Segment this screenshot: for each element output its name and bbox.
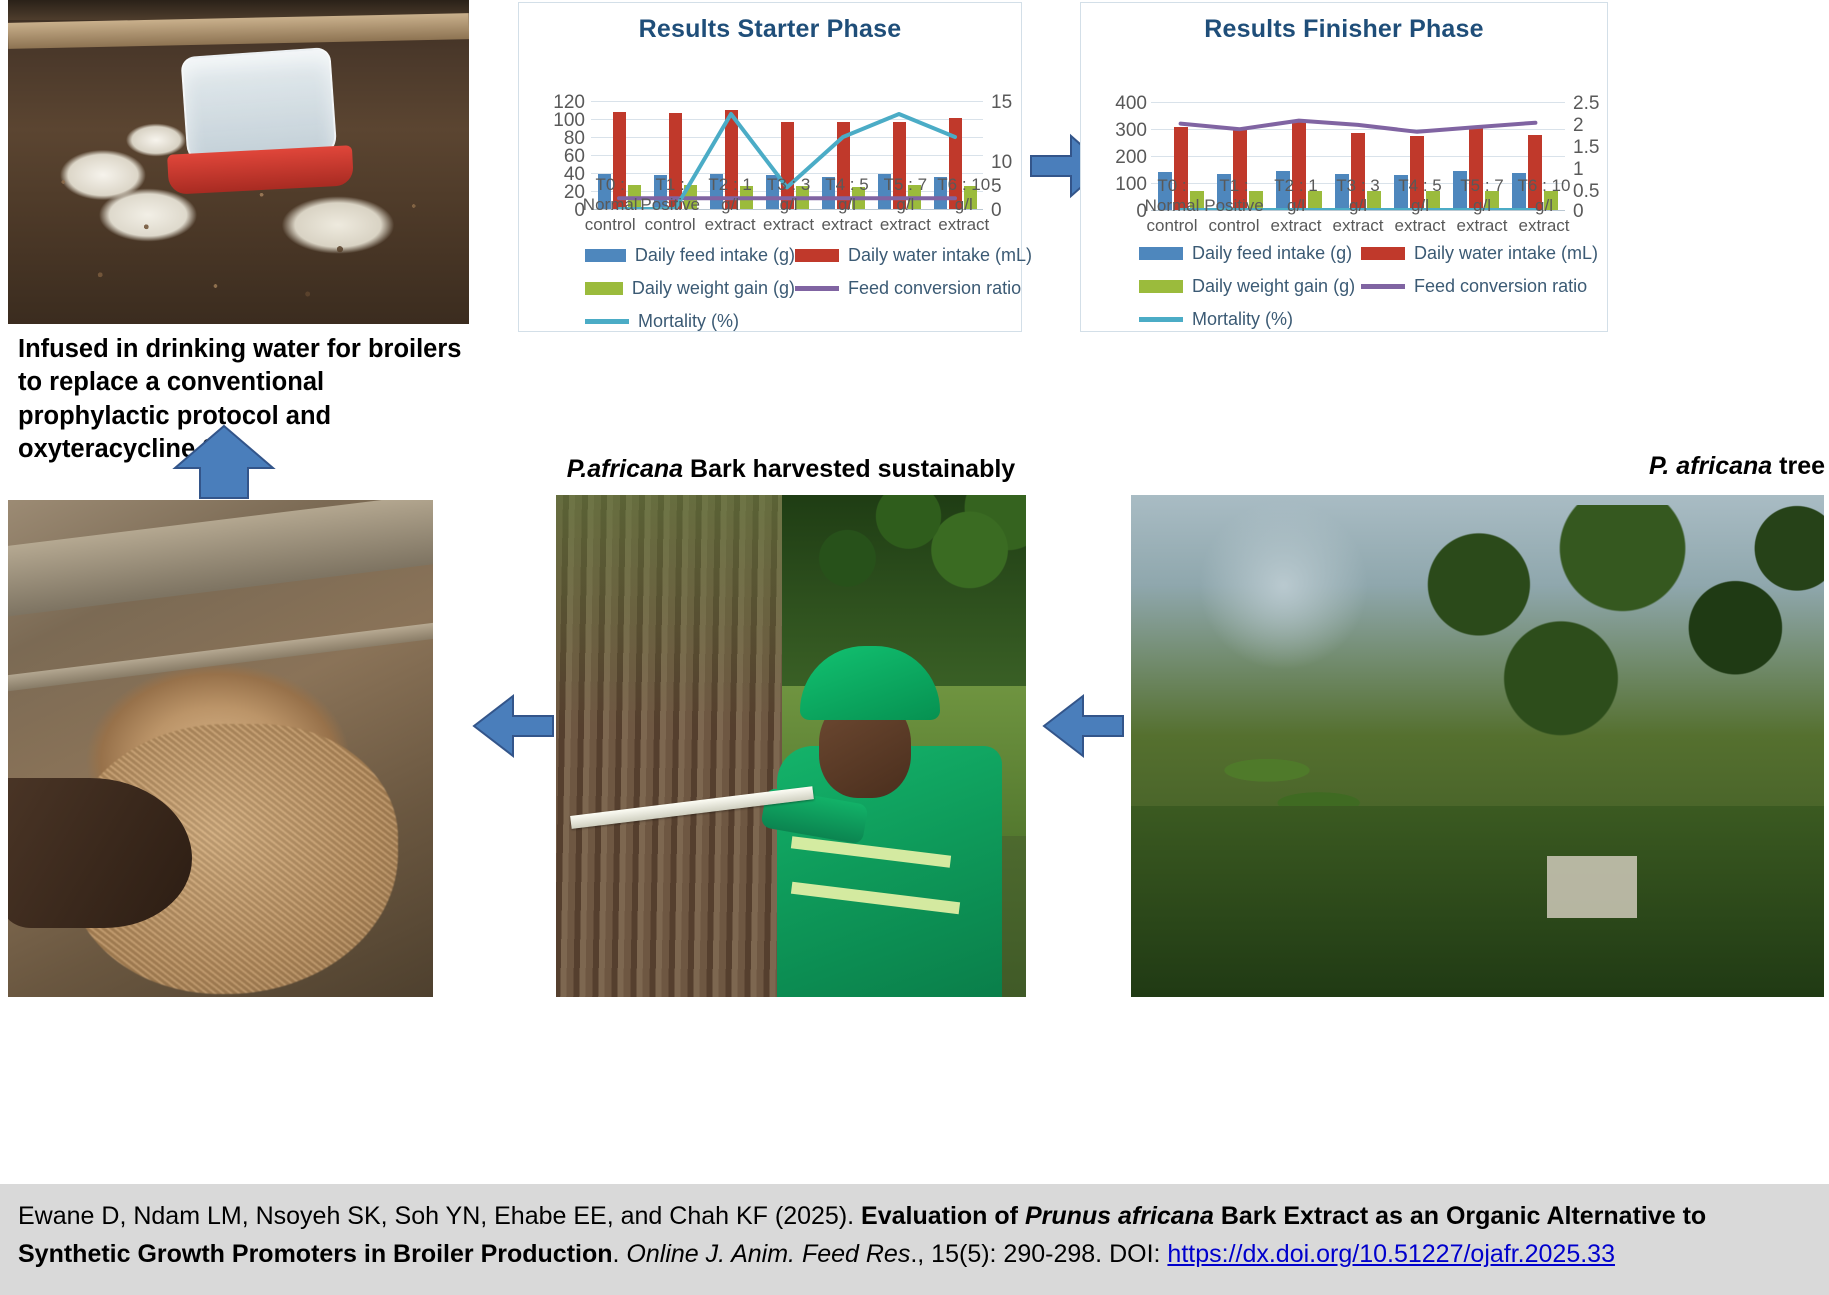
citation-title-species: Prunus africana: [1025, 1202, 1214, 1230]
legend-label: Feed conversion ratio: [1414, 276, 1587, 297]
legend-starter: Daily feed intake (g) Daily water intake…: [519, 245, 1021, 332]
legend-label: Daily water intake (mL): [848, 245, 1032, 266]
legend-label: Daily water intake (mL): [1414, 243, 1598, 264]
understory-vegetation: [1131, 806, 1824, 997]
x-axis-labels-starter: T0 : Normal control T1 : Positive contro…: [581, 175, 993, 235]
x-label: T0 : Normal control: [1141, 176, 1203, 236]
legend-label: Daily feed intake (g): [635, 245, 795, 266]
caption-tree-species: P. africana: [1649, 452, 1772, 480]
legend-line-mortality: [585, 319, 629, 324]
shelf-edge: [8, 618, 433, 696]
legend-label: Mortality (%): [638, 311, 739, 332]
legend-swatch-weight-gain: [1139, 280, 1183, 293]
legend-item-weight-gain[interactable]: Daily weight gain (g): [1139, 276, 1361, 297]
x-axis-labels-finisher: T0 : Normal control T1 : Positive contro…: [1141, 176, 1575, 236]
legend-finisher: Daily feed intake (g) Daily water intake…: [1081, 243, 1607, 330]
y-tick-finisher-0: 0: [1093, 201, 1147, 223]
x-label: T1 : Positive control: [1203, 176, 1265, 236]
arrow-up-to-broilers-photo: [172, 424, 277, 500]
x-label: T6 : 10 g/l extract: [935, 175, 993, 235]
citation-bar: Ewane D, Ndam LM, Nsoyeh SK, Soh YN, Eha…: [0, 1182, 1829, 1295]
doi-link[interactable]: https://dx.doi.org/10.51227/ojafr.2025.3…: [1167, 1240, 1615, 1268]
shelf-board: [8, 500, 433, 621]
legend-label: Daily feed intake (g): [1192, 243, 1352, 264]
legend-item-fcr[interactable]: Feed conversion ratio: [1361, 276, 1587, 297]
legend-label: Mortality (%): [1192, 309, 1293, 330]
x-label: T0 : Normal control: [581, 175, 639, 235]
chart-title-finisher: Results Finisher Phase: [1081, 15, 1607, 44]
chart-card-starter: Results Starter Phase 120 100 80 60 40 2…: [518, 2, 1022, 332]
legend-label: Feed conversion ratio: [848, 278, 1021, 299]
legend-item-fcr[interactable]: Feed conversion ratio: [795, 278, 1021, 299]
caption-bark-species: P.africana: [567, 455, 683, 483]
caption-bark-harvested: P.africana Bark harvested sustainably: [556, 455, 1026, 484]
broilers-photo: [8, 0, 469, 324]
legend-item-water-intake[interactable]: Daily water intake (mL): [1361, 243, 1598, 264]
y2-tick-finisher-1p5: 1.5: [1573, 137, 1599, 159]
bark-powder-photo: [8, 500, 433, 997]
caption-bark-rest: Bark harvested sustainably: [683, 455, 1015, 483]
legend-line-fcr: [1361, 284, 1405, 289]
africana-tree-photo: [1131, 495, 1824, 997]
y2-tick-finisher-2: 2: [1573, 115, 1584, 137]
x-label: T6 : 10 g/l extract: [1513, 176, 1575, 236]
chart-title-starter: Results Starter Phase: [519, 15, 1021, 44]
citation-volume-pages: ., 15(5): 290-298. DOI:: [910, 1240, 1167, 1268]
x-label: T5 : 7 g/l extract: [876, 175, 934, 235]
y-tick-finisher-400: 400: [1093, 93, 1147, 115]
caption-tree-rest: tree: [1772, 452, 1825, 480]
legend-swatch-water-intake: [795, 249, 839, 262]
legend-item-mortality[interactable]: Mortality (%): [585, 311, 739, 332]
legend-swatch-water-intake: [1361, 247, 1405, 260]
y2-tick-starter-10: 10: [991, 152, 1012, 174]
y2-tick-starter-15: 15: [991, 92, 1012, 114]
caption-africana-tree: P. africana tree: [1330, 452, 1825, 481]
legend-item-feed-intake[interactable]: Daily feed intake (g): [585, 245, 795, 266]
line-feed-conversion-ratio: [1181, 121, 1536, 132]
legend-line-fcr: [795, 286, 839, 291]
legend-item-weight-gain[interactable]: Daily weight gain (g): [585, 278, 795, 299]
bark-harvesting-photo: [556, 495, 1026, 997]
y-tick-finisher-200: 200: [1093, 147, 1147, 169]
legend-line-mortality: [1139, 317, 1183, 322]
x-label: T1 : Positive control: [639, 175, 701, 235]
x-label: T2 : 1 g/l extract: [701, 175, 759, 235]
legend-swatch-feed-intake: [585, 249, 626, 262]
building: [1547, 856, 1637, 918]
citation-title-pre: Evaluation of: [861, 1202, 1025, 1230]
y2-tick-finisher-2p5: 2.5: [1573, 93, 1599, 115]
legend-swatch-weight-gain: [585, 282, 623, 295]
chart-card-finisher: Results Finisher Phase 400 300 200 100 0…: [1080, 2, 1608, 332]
y-tick-starter-0: 0: [537, 200, 585, 222]
arrow-left-to-harvest-photo: [1040, 690, 1125, 762]
citation-journal: Online J. Anim. Feed Res: [626, 1240, 910, 1268]
legend-item-water-intake[interactable]: Daily water intake (mL): [795, 245, 1032, 266]
x-label: T4 : 5 g/l extract: [818, 175, 876, 235]
trunk-moss: [556, 495, 782, 726]
citation-period: .: [613, 1240, 627, 1268]
arrow-left-to-powder-photo: [470, 690, 555, 762]
legend-label: Daily weight gain (g): [632, 278, 795, 299]
x-label: T5 : 7 g/l extract: [1451, 176, 1513, 236]
x-label: T4 : 5 g/l extract: [1389, 176, 1451, 236]
x-label: T3 : 3 g/l extract: [759, 175, 817, 235]
legend-item-feed-intake[interactable]: Daily feed intake (g): [1139, 243, 1361, 264]
y-tick-finisher-300: 300: [1093, 120, 1147, 142]
legend-swatch-feed-intake: [1139, 247, 1183, 260]
citation-authors: Ewane D, Ndam LM, Nsoyeh SK, Soh YN, Eha…: [18, 1202, 861, 1230]
y-tick-finisher-100: 100: [1093, 174, 1147, 196]
x-label: T2 : 1 g/l extract: [1265, 176, 1327, 236]
legend-item-mortality[interactable]: Mortality (%): [1139, 309, 1293, 330]
legend-label: Daily weight gain (g): [1192, 276, 1355, 297]
y2-tick-finisher-0p5: 0.5: [1573, 181, 1599, 203]
x-label: T3 : 3 g/l extract: [1327, 176, 1389, 236]
